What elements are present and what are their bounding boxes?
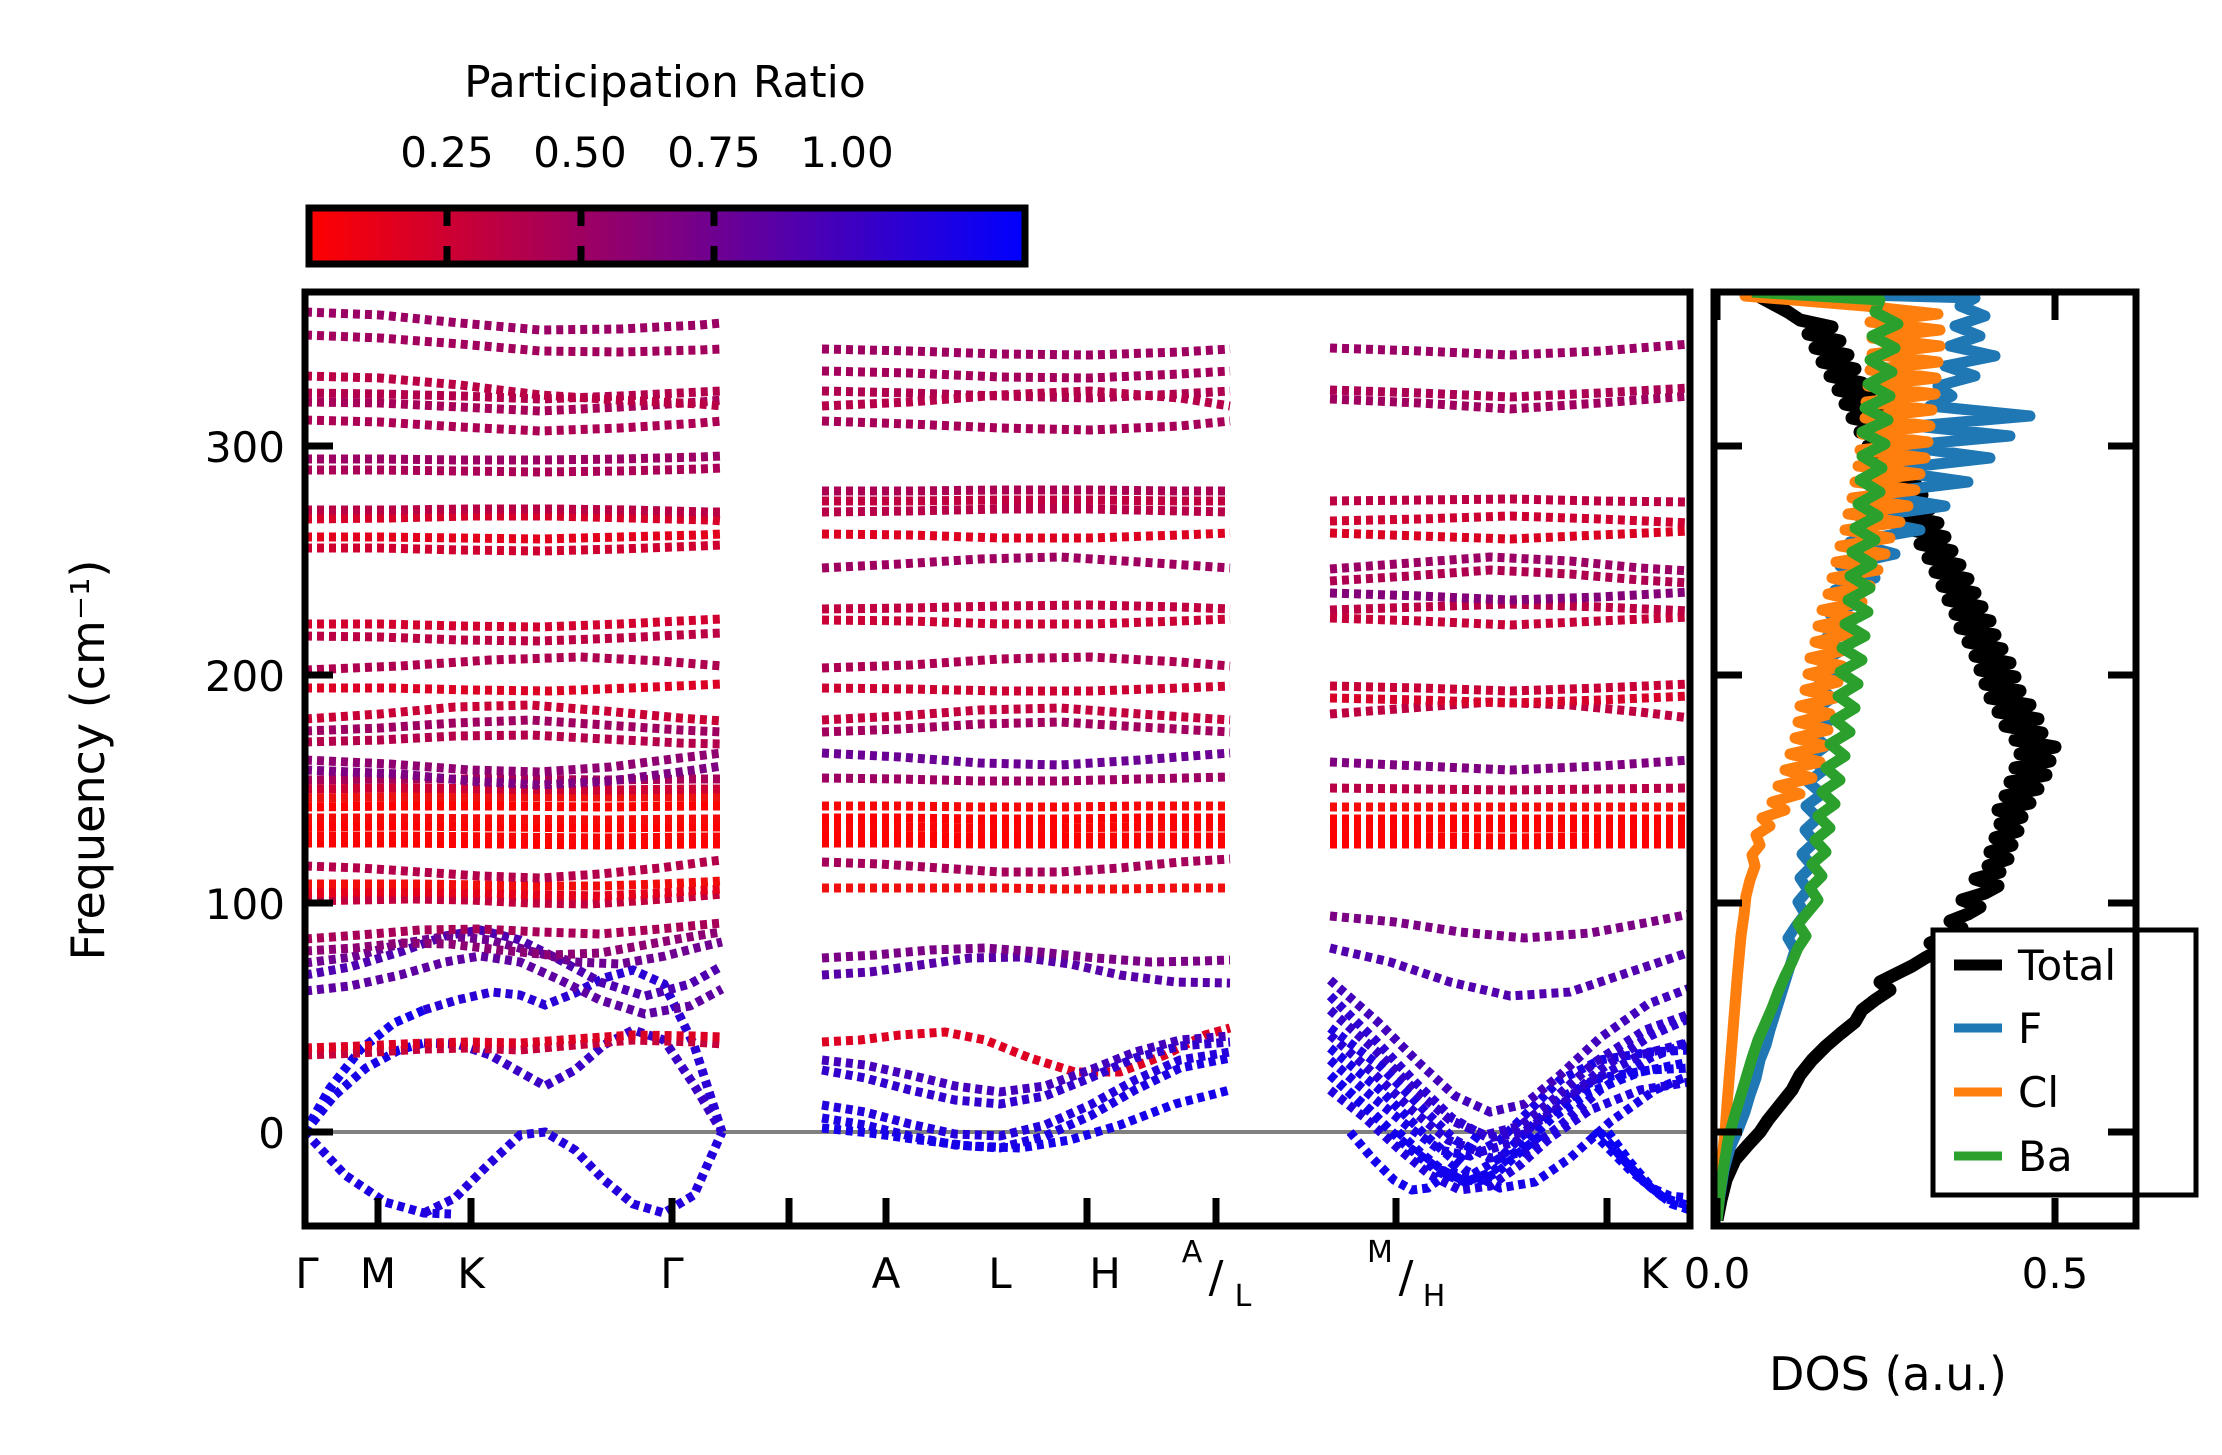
- legend-label-total: Total: [2017, 941, 2116, 990]
- band-xtick-a-over-l-denominator: L: [1235, 1279, 1252, 1314]
- colorbar-title: Participation Ratio: [464, 57, 866, 108]
- colorbar-gradient: [309, 208, 1025, 264]
- band-ytick-0: 0: [258, 1109, 285, 1158]
- band-xtick-gamma-1: Γ: [295, 1249, 319, 1298]
- band-xtick-l: L: [988, 1249, 1012, 1298]
- dos-legend: Total F Cl Ba: [1933, 930, 2196, 1195]
- band-xtick-a: A: [872, 1249, 901, 1298]
- legend-label-ba: Ba: [2018, 1132, 2073, 1181]
- band-ytick-100: 100: [205, 880, 285, 929]
- band-xtick-k-1: K: [457, 1249, 486, 1298]
- band-xtick-h: H: [1089, 1249, 1121, 1298]
- slash-icon: /: [1209, 1252, 1224, 1303]
- band-ytick-200: 200: [205, 652, 285, 701]
- colorbar-tick-0: 0.25: [400, 128, 494, 177]
- colorbar-tick-1: 0.50: [533, 128, 627, 177]
- dos-xlabel: DOS (a.u.): [1769, 1347, 2007, 1401]
- band-ylabel: Frequency (cm⁻¹): [61, 560, 115, 961]
- dos-xtick-1: 0.5: [2022, 1249, 2089, 1298]
- band-xtick-k-2: K: [1640, 1249, 1669, 1298]
- legend-label-cl: Cl: [2018, 1068, 2059, 1117]
- band-xtick-m-over-h-numerator: M: [1367, 1235, 1393, 1270]
- band-ytick-300: 300: [205, 423, 285, 472]
- phonon-figure: Participation Ratio 0.25 0.50 0.75 1.00: [0, 0, 2222, 1455]
- legend-label-f: F: [2018, 1004, 2042, 1053]
- figure-canvas: Participation Ratio 0.25 0.50 0.75 1.00: [0, 0, 2222, 1455]
- slash-icon: /: [1399, 1252, 1414, 1303]
- band-xtick-a-over-l-numerator: A: [1182, 1235, 1203, 1270]
- colorbar-tick-3: 1.00: [800, 128, 894, 177]
- band-xtick-m-over-h-denominator: H: [1423, 1279, 1446, 1314]
- band-xtick-gamma-2: Γ: [660, 1249, 684, 1298]
- dos-xtick-0: 0.0: [1684, 1249, 1751, 1298]
- colorbar-tick-2: 0.75: [667, 128, 761, 177]
- band-xtick-m: M: [360, 1249, 396, 1298]
